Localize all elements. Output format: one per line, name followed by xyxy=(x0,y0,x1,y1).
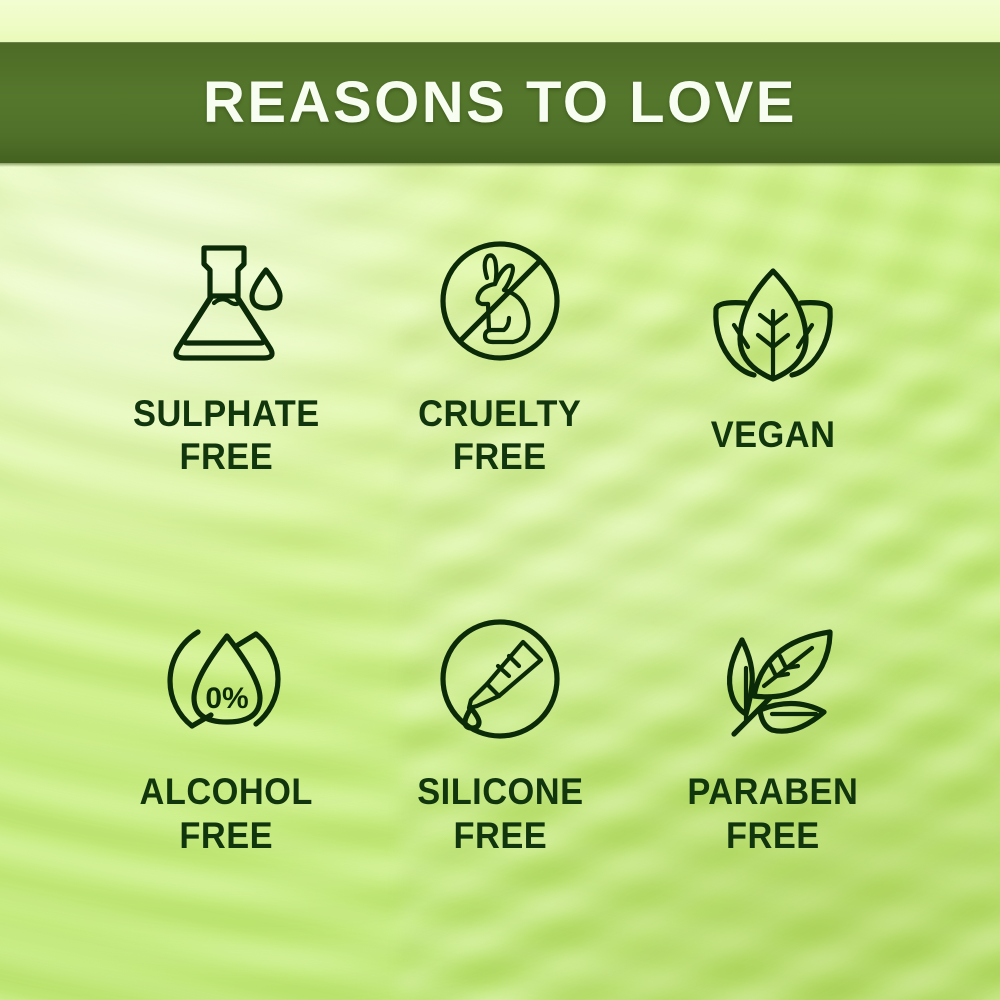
header-banner: REASONS TO LOVE xyxy=(0,42,1000,163)
three-leaves-vegan-icon xyxy=(698,247,848,397)
svg-text:0%: 0% xyxy=(205,682,248,715)
benefit-label: CRUELTY FREE xyxy=(418,392,581,479)
benefits-grid: SULPHATE FREE CRUELTY FREE xyxy=(0,163,1000,1000)
benefit-item-silicone-free: SILICONE FREE xyxy=(363,542,636,921)
benefit-label: VEGAN xyxy=(711,413,836,457)
flask-droplet-icon xyxy=(152,226,302,376)
page-title: REASONS TO LOVE xyxy=(203,74,797,132)
benefit-label: PARABEN FREE xyxy=(688,770,859,857)
benefit-item-cruelty-free: CRUELTY FREE xyxy=(363,163,636,542)
leaf-sprig-branch-icon xyxy=(698,604,848,754)
benefit-item-paraben-free: PARABEN FREE xyxy=(637,542,910,921)
reasons-to-love-infographic: REASONS TO LOVE SULPHATE FREE xyxy=(0,0,1000,1000)
benefit-label: SILICONE FREE xyxy=(417,770,583,857)
dropper-pipette-circle-icon xyxy=(425,604,575,754)
benefit-item-sulphate-free: SULPHATE FREE xyxy=(90,163,363,542)
water-drop-zero-percent-icon: 0% xyxy=(152,604,302,754)
benefit-item-vegan: VEGAN xyxy=(637,163,910,542)
no-animal-testing-rabbit-icon xyxy=(425,226,575,376)
benefit-label: ALCOHOL FREE xyxy=(140,770,313,857)
benefit-item-alcohol-free: 0% ALCOHOL FREE xyxy=(90,542,363,921)
background-top-strip xyxy=(0,0,1000,46)
benefit-label: SULPHATE FREE xyxy=(133,392,320,479)
